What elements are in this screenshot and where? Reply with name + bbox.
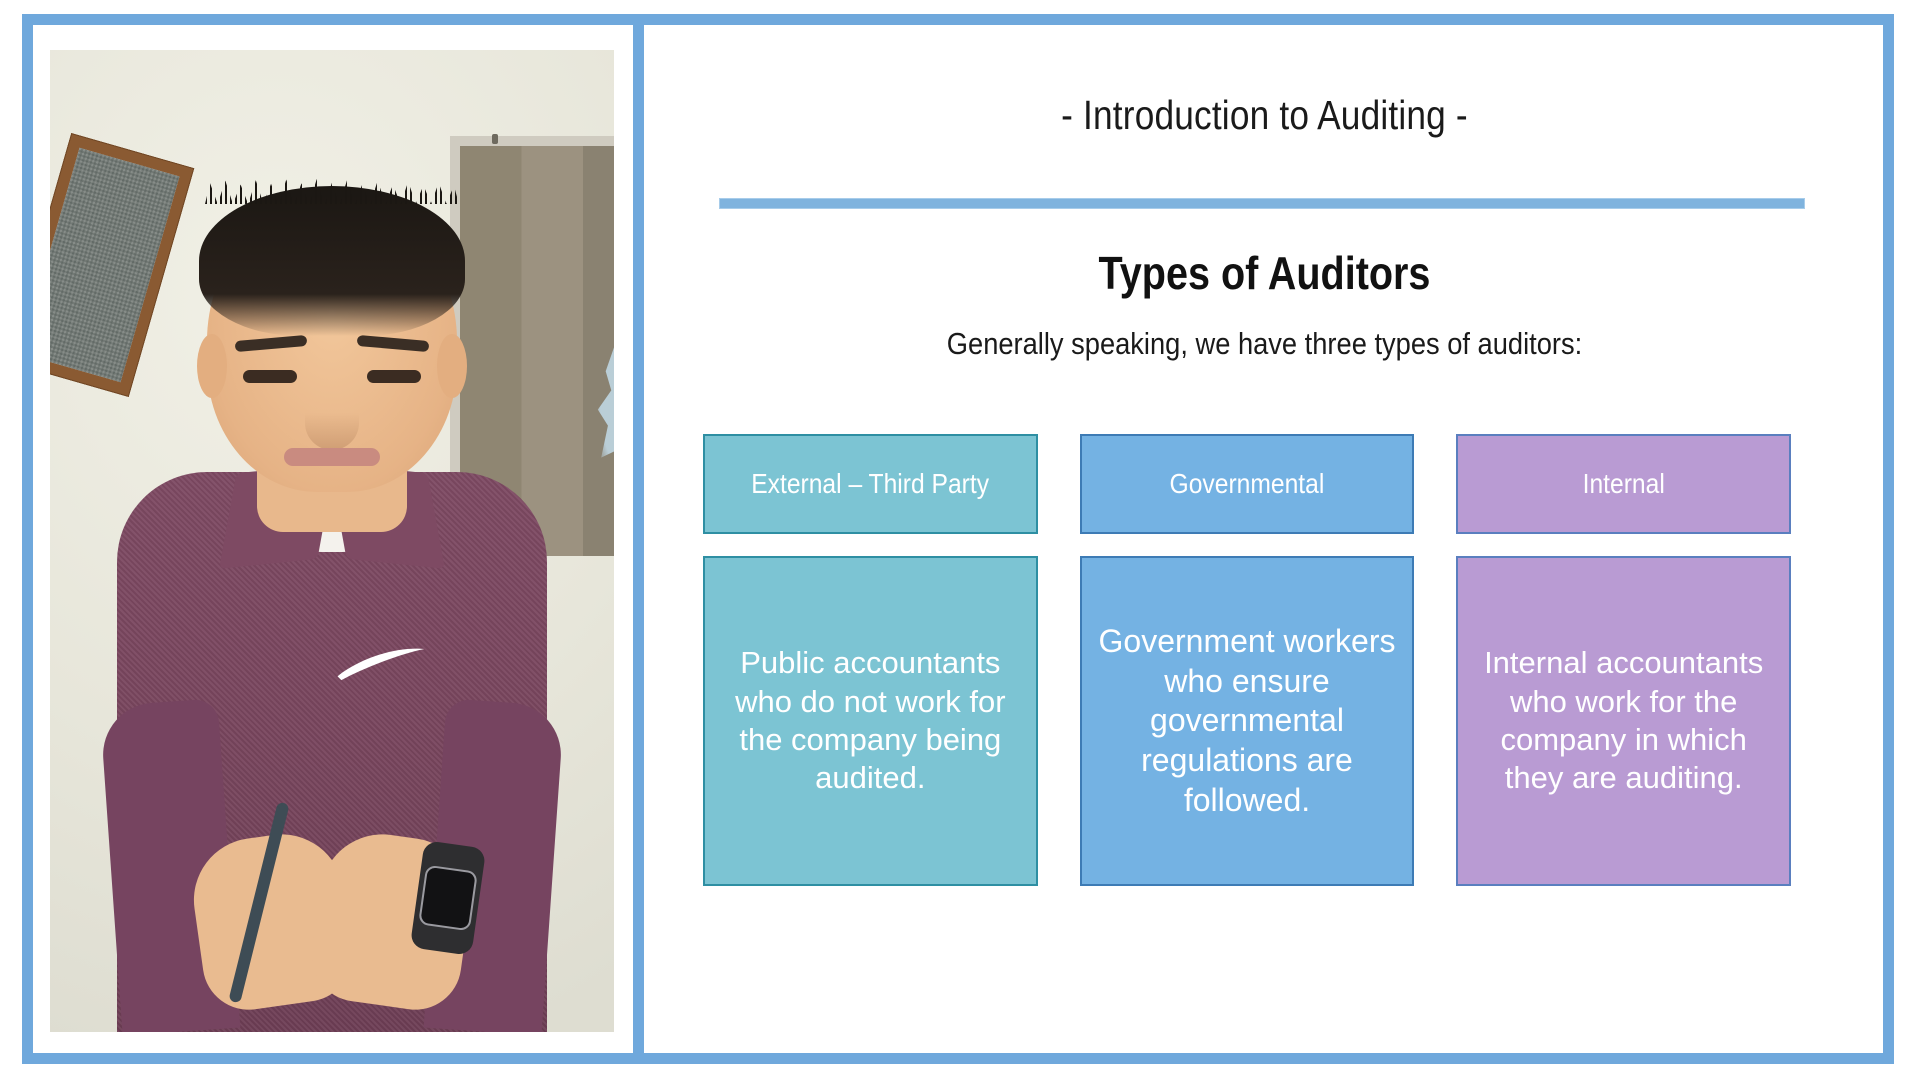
card-body-text: Internal accountants who work for the co… (1472, 644, 1775, 798)
eyebrow-left (235, 335, 308, 352)
page-title: Types of Auditors (740, 246, 1788, 300)
title-underline-rule (719, 198, 1805, 209)
hair (199, 186, 465, 336)
mouth (284, 448, 380, 466)
card-body-text: Government workers who ensure government… (1096, 622, 1399, 820)
card-governmental: Governmental Government workers who ensu… (1080, 434, 1415, 886)
card-body-text: Public accountants who do not work for t… (719, 644, 1022, 798)
card-body-internal: Internal accountants who work for the co… (1456, 556, 1791, 886)
door-nail (492, 134, 498, 144)
section-subtitle: Generally speaking, we have three types … (728, 326, 1801, 362)
slide-outer-frame: - Introduction to Auditing - Types of Au… (22, 14, 1894, 1064)
nose (305, 388, 359, 450)
card-header-governmental[interactable]: Governmental (1080, 434, 1415, 534)
eyebrow-right (357, 335, 430, 352)
panel-divider (633, 25, 644, 1053)
card-header-external[interactable]: External – Third Party (703, 434, 1038, 534)
card-body-external: Public accountants who do not work for t… (703, 556, 1038, 886)
video-viewport[interactable] (50, 50, 614, 1032)
eye-left (243, 370, 297, 383)
auditor-type-cards: External – Third Party Public accountant… (703, 434, 1791, 886)
head (207, 202, 457, 492)
clasped-hands (197, 806, 467, 1006)
card-internal: Internal Internal accountants who work f… (1456, 434, 1791, 886)
card-header-label: External – Third Party (751, 468, 989, 500)
card-body-governmental: Government workers who ensure government… (1080, 556, 1415, 886)
eye-right (367, 370, 421, 383)
nike-swoosh-icon (333, 648, 429, 682)
card-header-internal[interactable]: Internal (1456, 434, 1791, 534)
card-header-label: Internal (1583, 468, 1665, 500)
instructor-figure (50, 272, 614, 1032)
ear-left (197, 334, 227, 398)
card-external-third-party: External – Third Party Public accountant… (703, 434, 1038, 886)
instructor-video-panel[interactable] (42, 34, 622, 1048)
card-header-label: Governmental (1170, 468, 1325, 500)
ear-right (437, 334, 467, 398)
slide-course-title: - Introduction to Auditing - (740, 92, 1788, 139)
slide-content-panel: - Introduction to Auditing - Types of Au… (655, 34, 1874, 1044)
